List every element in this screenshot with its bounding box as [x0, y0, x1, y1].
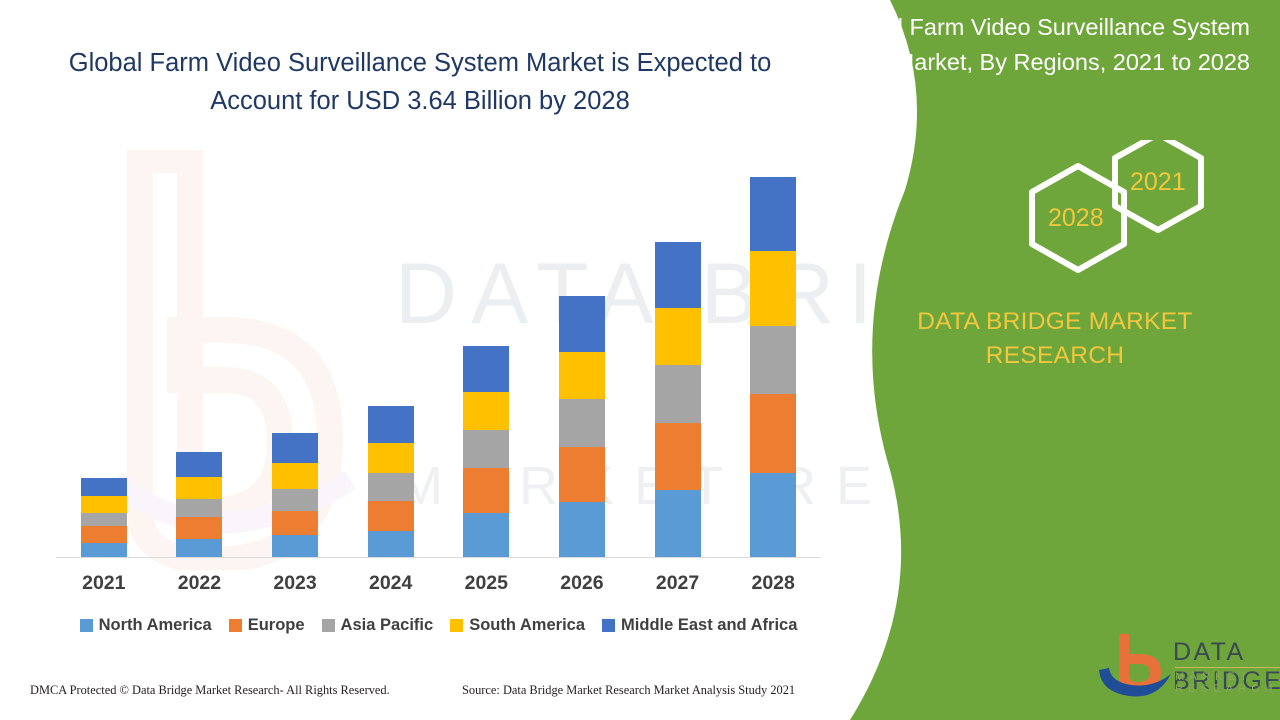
- x-label-2028: 2028: [733, 572, 813, 595]
- bar-segment-asia-pacific: [368, 473, 414, 501]
- bar-segment-north-america: [750, 473, 796, 558]
- legend-label: North America: [99, 616, 212, 635]
- bar-segment-middle-east-and-africa: [81, 478, 127, 496]
- bar-segment-south-america: [559, 352, 605, 399]
- bar-segment-europe: [655, 423, 701, 490]
- x-label-2024: 2024: [351, 572, 431, 595]
- legend-swatch-icon: [450, 619, 463, 632]
- bar-segment-north-america: [81, 543, 127, 558]
- bar-segment-europe: [559, 447, 605, 502]
- logo-mark-icon: [1095, 630, 1175, 702]
- logo-subtitle: MARKET RESEARCH: [1175, 671, 1280, 695]
- bar-segment-north-america: [176, 539, 222, 558]
- bar-segment-south-america: [463, 392, 509, 430]
- stacked-bar-chart: [56, 150, 821, 558]
- bar-segment-south-america: [655, 308, 701, 365]
- bar-segment-europe: [750, 394, 796, 473]
- bar-segment-asia-pacific: [750, 326, 796, 394]
- legend-label: Middle East and Africa: [621, 616, 797, 635]
- legend-label: South America: [469, 616, 585, 635]
- bar-segment-asia-pacific: [176, 499, 222, 517]
- bar-2027: [655, 242, 701, 558]
- x-label-2022: 2022: [159, 572, 239, 595]
- hexagon-outlines-icon: [990, 140, 1240, 300]
- data-bridge-logo: DATA BRIDGE MARKET RESEARCH: [1095, 630, 1280, 702]
- x-label-2025: 2025: [446, 572, 526, 595]
- bar-segment-europe: [81, 526, 127, 543]
- bar-2021: [81, 478, 127, 558]
- right-panel: Global Farm Video Surveillance System Ma…: [830, 0, 1280, 720]
- legend-item-middle-east-and-africa[interactable]: Middle East and Africa: [602, 616, 797, 635]
- chart-legend: North AmericaEuropeAsia PacificSouth Ame…: [56, 616, 821, 635]
- panel-brand-text: DATA BRIDGE MARKET RESEARCH: [855, 305, 1255, 373]
- legend-label: Europe: [248, 616, 305, 635]
- bar-segment-south-america: [272, 463, 318, 489]
- bar-segment-middle-east-and-africa: [176, 452, 222, 477]
- bar-2026: [559, 296, 605, 558]
- bar-segment-asia-pacific: [272, 489, 318, 511]
- hexagon-badges: 2028 2021: [990, 140, 1240, 300]
- bar-segment-south-america: [176, 477, 222, 499]
- bar-2024: [368, 406, 414, 558]
- bar-segment-europe: [463, 468, 509, 513]
- x-axis-tick-labels: 20212022202320242025202620272028: [56, 572, 821, 602]
- panel-heading: Global Farm Video Surveillance System Ma…: [830, 10, 1250, 80]
- page-title: Global Farm Video Surveillance System Ma…: [50, 44, 790, 120]
- x-label-2023: 2023: [255, 572, 335, 595]
- logo-divider: [1175, 667, 1280, 668]
- bar-segment-north-america: [463, 513, 509, 558]
- bar-segment-middle-east-and-africa: [750, 177, 796, 251]
- legend-label: Asia Pacific: [341, 616, 434, 635]
- bar-segment-north-america: [368, 531, 414, 558]
- legend-item-europe[interactable]: Europe: [229, 616, 305, 635]
- x-label-2021: 2021: [64, 572, 144, 595]
- bar-2023: [272, 433, 318, 558]
- bar-segment-asia-pacific: [81, 513, 127, 526]
- bar-2025: [463, 346, 509, 558]
- bar-segment-south-america: [750, 251, 796, 326]
- legend-item-north-america[interactable]: North America: [80, 616, 212, 635]
- footer-copyright: DMCA Protected © Data Bridge Market Rese…: [30, 683, 390, 698]
- bar-segment-europe: [368, 501, 414, 531]
- x-label-2026: 2026: [542, 572, 622, 595]
- bar-segment-europe: [272, 511, 318, 535]
- footer-source: Source: Data Bridge Market Research Mark…: [462, 683, 795, 698]
- bar-segment-north-america: [559, 502, 605, 558]
- legend-item-asia-pacific[interactable]: Asia Pacific: [322, 616, 434, 635]
- bar-2028: [750, 177, 796, 558]
- hex-label-2028: 2028: [1048, 204, 1104, 233]
- bar-segment-middle-east-and-africa: [463, 346, 509, 392]
- bar-segment-europe: [176, 517, 222, 539]
- footer: DMCA Protected © Data Bridge Market Rese…: [0, 683, 860, 713]
- legend-swatch-icon: [229, 619, 242, 632]
- x-label-2027: 2027: [638, 572, 718, 595]
- legend-item-south-america[interactable]: South America: [450, 616, 585, 635]
- infographic-canvas: DATA BRIDGE MARKET RESEARCH Global Farm …: [0, 0, 1280, 720]
- bar-segment-north-america: [655, 490, 701, 558]
- bar-segment-north-america: [272, 535, 318, 558]
- hex-label-2021: 2021: [1130, 168, 1186, 197]
- bar-segment-middle-east-and-africa: [368, 406, 414, 443]
- bar-segment-south-america: [368, 443, 414, 473]
- bar-segment-middle-east-and-africa: [655, 242, 701, 308]
- legend-swatch-icon: [602, 619, 615, 632]
- bar-2022: [176, 452, 222, 558]
- x-axis-line: [56, 557, 821, 558]
- bar-segment-middle-east-and-africa: [272, 433, 318, 463]
- bar-segment-middle-east-and-africa: [559, 296, 605, 352]
- bar-segment-south-america: [81, 496, 127, 513]
- bar-segment-asia-pacific: [655, 365, 701, 423]
- legend-swatch-icon: [80, 619, 93, 632]
- bar-segment-asia-pacific: [559, 399, 605, 447]
- legend-swatch-icon: [322, 619, 335, 632]
- bar-segment-asia-pacific: [463, 430, 509, 468]
